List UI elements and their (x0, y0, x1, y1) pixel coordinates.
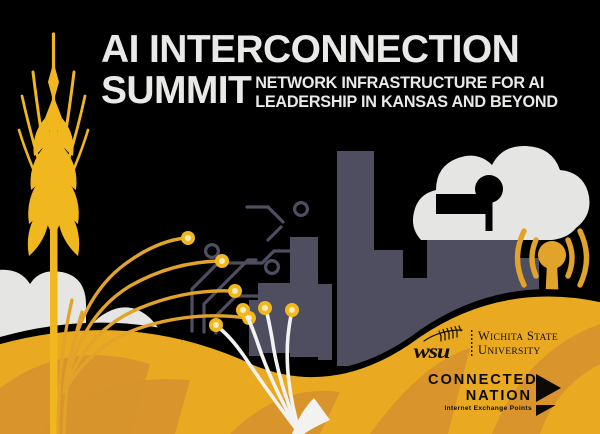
building-4 (337, 151, 374, 366)
circuit-node-3 (206, 245, 219, 258)
poster-canvas: AI INTERCONNECTION SUMMIT NETWORK INFRAS… (0, 0, 600, 434)
circuit-node-2 (266, 261, 279, 274)
building-notch-front (436, 194, 486, 214)
building-3 (318, 284, 332, 360)
circuit-node-1 (295, 203, 308, 216)
poster-illustration (0, 0, 600, 434)
building-2 (290, 237, 318, 357)
